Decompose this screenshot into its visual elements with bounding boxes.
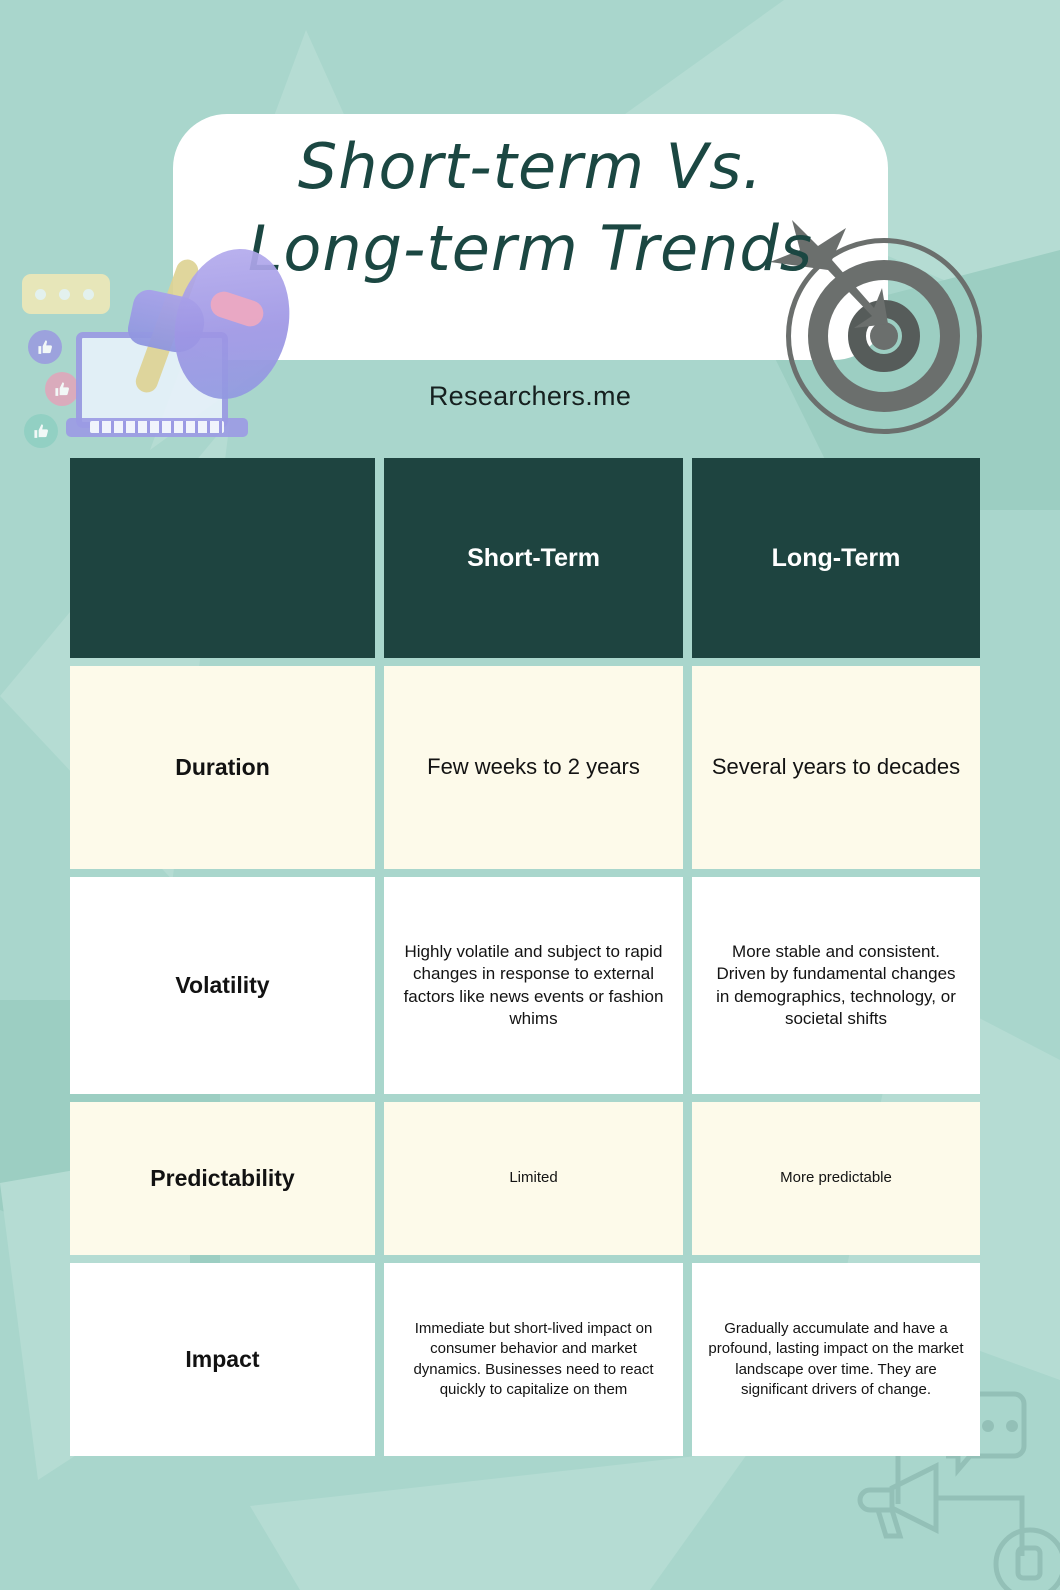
chat-dot xyxy=(83,289,94,300)
row-short-volatility: Highly volatile and subject to rapid cha… xyxy=(384,877,683,1094)
table-row: Volatility Highly volatile and subject t… xyxy=(70,877,980,1094)
table-header-row: Short-Term Long-Term xyxy=(70,458,980,658)
row-long-duration: Several years to decades xyxy=(692,666,980,869)
table-row: Impact Immediate but short-lived impact … xyxy=(70,1263,980,1456)
thumbs-up-icon xyxy=(28,330,62,364)
table-row: Duration Few weeks to 2 years Several ye… xyxy=(70,666,980,869)
bg-shape-8 xyxy=(250,1450,750,1590)
infographic-page: Short-term Vs. Long-term Trends Research… xyxy=(0,0,1060,1590)
row-short-predictability: Limited xyxy=(384,1102,683,1255)
chat-dot xyxy=(35,289,46,300)
header-cell-short-term: Short-Term xyxy=(384,458,683,658)
marketing-illustration xyxy=(6,262,256,442)
row-short-impact: Immediate but short-lived impact on cons… xyxy=(384,1263,683,1456)
row-label-impact: Impact xyxy=(70,1263,375,1456)
row-label-predictability: Predictability xyxy=(70,1102,375,1255)
row-long-volatility: More stable and consistent. Driven by fu… xyxy=(692,877,980,1094)
row-long-predictability: More predictable xyxy=(692,1102,980,1255)
title-line-1: Short-term Vs. xyxy=(173,126,888,208)
megaphone-icon xyxy=(114,242,294,432)
comparison-table: Short-Term Long-Term Duration Few weeks … xyxy=(70,458,980,1464)
table-row: Predictability Limited More predictable xyxy=(70,1102,980,1255)
header-cell-blank xyxy=(70,458,375,658)
chat-dot xyxy=(59,289,70,300)
row-long-impact: Gradually accumulate and have a profound… xyxy=(692,1263,980,1456)
thumbs-up-icon xyxy=(24,414,58,448)
header-cell-long-term: Long-Term xyxy=(692,458,980,658)
chat-bubble-icon xyxy=(22,274,110,314)
row-label-volatility: Volatility xyxy=(70,877,375,1094)
row-label-duration: Duration xyxy=(70,666,375,869)
row-short-duration: Few weeks to 2 years xyxy=(384,666,683,869)
